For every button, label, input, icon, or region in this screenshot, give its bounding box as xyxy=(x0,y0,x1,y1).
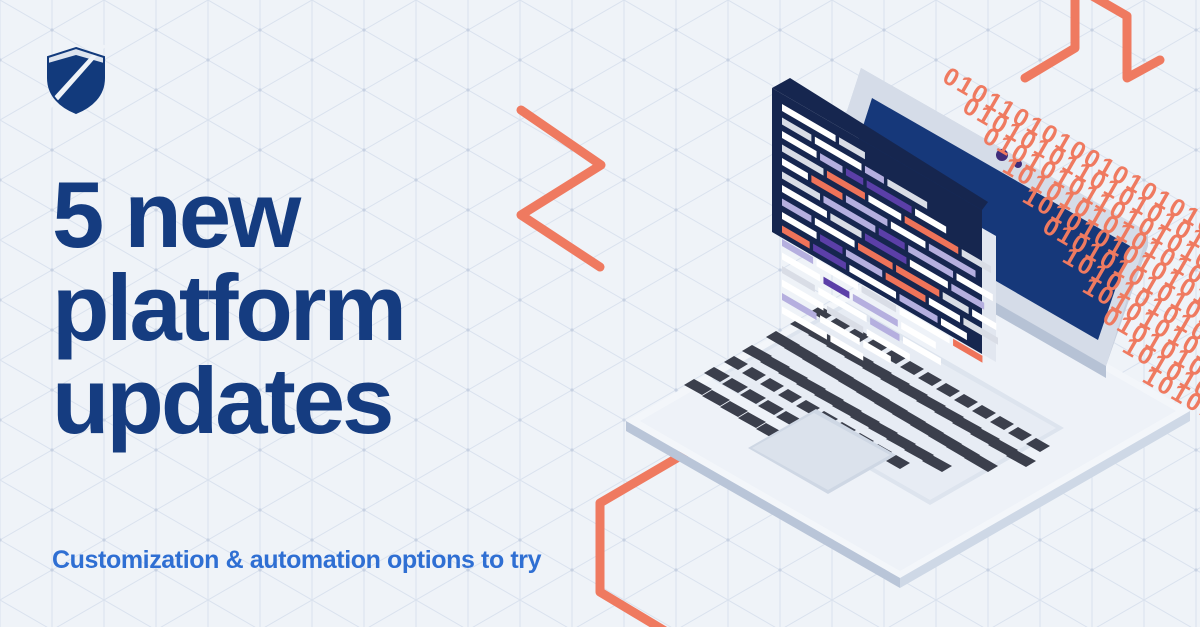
webcam-indicator-dot xyxy=(1014,160,1022,168)
subtitle: Customization & automation options to tr… xyxy=(52,546,541,575)
promo-banner: 0101101010010101010101010101011010101010… xyxy=(0,0,1200,627)
webcam-dot xyxy=(996,149,1008,161)
headline-line-3: updates xyxy=(52,354,572,447)
headline-block: 5 new platform updates xyxy=(52,168,572,447)
shield-logo[interactable] xyxy=(44,44,108,116)
page-title: 5 new platform updates xyxy=(52,168,572,447)
headline-line-2: platform xyxy=(52,261,572,354)
headline-line-1: 5 new xyxy=(52,168,572,261)
